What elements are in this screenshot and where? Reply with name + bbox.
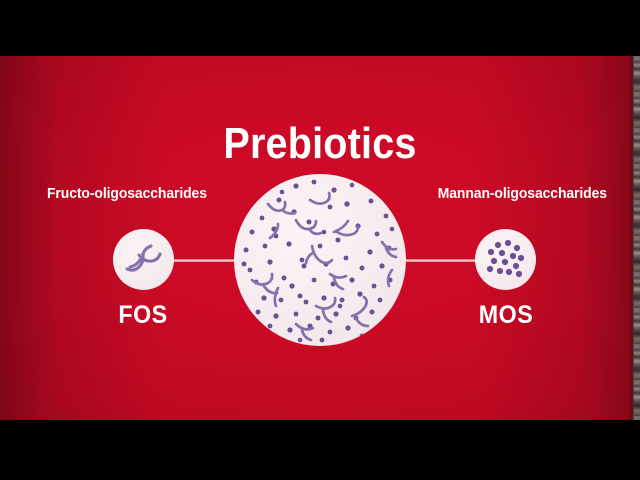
video-frame: Prebiotics Fructo-oligosaccharides Manna… (0, 0, 640, 480)
letterbox-bar-bottom (0, 420, 640, 480)
label-mos-abbr: MOS (441, 301, 571, 329)
mos-circle (475, 229, 536, 290)
fos-circle (113, 229, 174, 290)
mixed-molecule-pool-icon (234, 174, 406, 346)
letterbox-bar-top (0, 0, 640, 56)
label-fos-abbr: FOS (78, 301, 208, 329)
label-fructo-oligosaccharides: Fructo-oligosaccharides (47, 185, 207, 203)
label-mannan-oligosaccharides: Mannan-oligosaccharides (438, 185, 607, 203)
prebiotics-pool-circle (234, 174, 406, 346)
edge-artifact-fade (630, 56, 634, 420)
dot-cluster-molecule-icon (475, 229, 536, 290)
branched-chain-molecule-icon (113, 229, 174, 290)
edge-compression-artifact (633, 56, 640, 420)
page-title: Prebiotics (32, 122, 608, 166)
slide-stage: Prebiotics Fructo-oligosaccharides Manna… (0, 56, 640, 420)
slide-content: Prebiotics Fructo-oligosaccharides Manna… (0, 56, 640, 420)
